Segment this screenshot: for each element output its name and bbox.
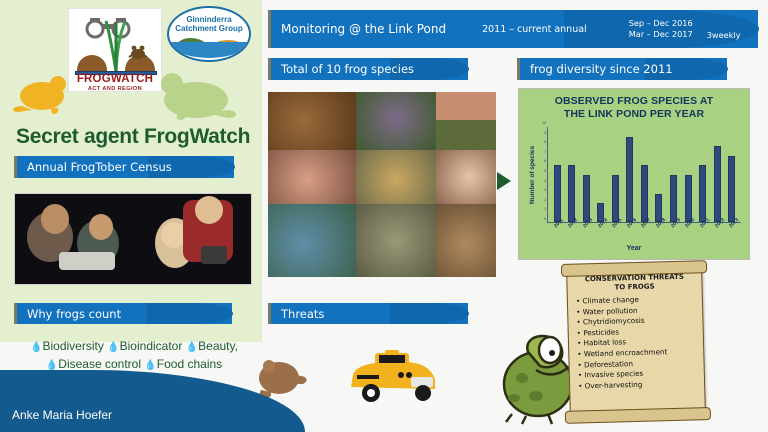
frogwatch-logo-title: FROGWATCH <box>69 73 161 85</box>
frog-photo-2 <box>356 92 436 150</box>
conservation-threats-scroll: CONSERVATION THREATS TO FROGS Climate ch… <box>566 266 706 418</box>
reason-food-chains: Food chains <box>157 357 222 371</box>
frog-photo-4 <box>268 150 356 204</box>
monitoring-frequency: 3weekly <box>697 30 741 40</box>
banner-monitoring-link-pond[interactable]: Monitoring @ the Link Pond 2011 – curren… <box>268 10 758 48</box>
droplet-icon: 💧 <box>107 342 119 353</box>
chart-y-tick: 1 <box>544 207 546 211</box>
chart-y-tick: 4 <box>544 179 546 183</box>
chart-title: OBSERVED FROG SPECIES AT THE LINK POND P… <box>527 95 741 121</box>
chart-y-tick: 6 <box>544 159 546 163</box>
chart-y-tick: 8 <box>544 140 546 144</box>
monitoring-period: 2011 – current annual <box>472 24 587 35</box>
taxi-illustration <box>345 349 441 407</box>
chart-bar <box>728 156 735 223</box>
banner-census-label: Annual FrogTober Census <box>17 160 172 174</box>
gcg-logo-line2: Catchment Group <box>169 24 249 33</box>
gcg-water <box>171 42 247 58</box>
yellow-frog-silhouette-icon <box>8 72 70 116</box>
chart-y-tick: 0 <box>544 217 546 221</box>
chart-x-tick: 2015 <box>611 220 620 229</box>
chart-bar <box>641 165 648 222</box>
poster-canvas: FROGWATCH ACT AND REGION Ginninderra Cat… <box>0 0 768 432</box>
frogwatch-logo: FROGWATCH ACT AND REGION <box>68 8 162 92</box>
chart-title-line2: THE LINK POND PER YEAR <box>527 108 741 121</box>
page-title: Secret agent FrogWatch <box>16 125 256 149</box>
chart-y-tick: 9 <box>544 131 546 135</box>
droplet-icon: 💧 <box>30 342 42 353</box>
banner-threats-label: Threats <box>271 307 324 321</box>
reason-disease-control: Disease control <box>58 357 141 371</box>
ginninderra-catchment-group-logo: Ginninderra Catchment Group <box>167 6 251 62</box>
chart-bar <box>583 175 590 223</box>
arrow-right-icon <box>497 172 511 190</box>
frog-icon <box>127 43 149 61</box>
green-frog-silhouette-icon <box>152 70 240 122</box>
chart-y-tick: 2 <box>544 198 546 202</box>
chart-bars <box>547 127 741 223</box>
chart-x-tick: 2012 <box>567 220 576 229</box>
chart-y-tick: 3 <box>544 188 546 192</box>
frog-photo-3 <box>436 92 496 150</box>
frog-photo-9 <box>436 204 496 277</box>
droplet-icon: 💧 <box>144 360 156 371</box>
chart-bar <box>670 175 677 223</box>
reeds-icon <box>103 19 129 71</box>
reason-bioindicator: Bioindicator <box>120 339 183 353</box>
chart-y-tick: 7 <box>544 150 546 154</box>
monitoring-ranges: Sep – Dec 2016 Mar – Dec 2017 <box>609 18 693 40</box>
frog-photo-6 <box>436 150 496 204</box>
threats-list: Climate changeWater pollutionChytridiomy… <box>576 293 704 392</box>
chart-y-axis-ticks: 012345678910 <box>538 127 547 223</box>
monitoring-range-1: Sep – Dec 2016 <box>619 18 693 28</box>
chart-bar <box>568 165 575 222</box>
monitoring-range-2: Mar – Dec 2017 <box>619 29 693 39</box>
banner-threats[interactable]: Threats <box>268 303 468 324</box>
droplet-icon: 💧 <box>186 342 198 353</box>
chart-y-axis-label: Number of species <box>527 127 538 223</box>
gcg-logo-line1: Ginninderra <box>169 15 249 24</box>
chart-y-tick: 5 <box>544 169 546 173</box>
author-name: Anke Maria Hoefer <box>12 408 112 422</box>
banner-annual-frogtober-census[interactable]: Annual FrogTober Census <box>14 156 234 178</box>
scroll-heading: CONSERVATION THREATS TO FROGS <box>567 267 702 293</box>
chart-bar <box>612 175 619 223</box>
frog-photo-7 <box>268 204 356 277</box>
frogwatch-logo-subtitle: ACT AND REGION <box>69 86 161 92</box>
reason-beauty: Beauty, <box>198 339 238 353</box>
banner-why-frogs-count[interactable]: Why frogs count <box>14 303 232 324</box>
chart-y-tick: 10 <box>542 121 546 125</box>
monitoring-title: Monitoring @ the Link Pond <box>271 22 446 36</box>
chart-bar <box>626 137 633 223</box>
census-night-photo <box>14 193 252 285</box>
chart-title-line1: OBSERVED FROG SPECIES AT <box>527 95 741 108</box>
frog-photo-1 <box>268 92 356 150</box>
chart-bar <box>685 175 692 223</box>
frog-species-chart: OBSERVED FROG SPECIES AT THE LINK POND P… <box>518 88 750 260</box>
banner-total-frog-species[interactable]: Total of 10 frog species <box>268 58 468 80</box>
frog-species-photo-collage <box>268 92 496 277</box>
chart-plot-area: Number of species 012345678910 <box>527 127 741 223</box>
chart-bar <box>554 165 561 222</box>
chart-x-tick: 2020 <box>684 220 693 229</box>
chart-x-axis-ticks: 2011201220132014201520162017201820192020… <box>547 223 741 247</box>
frog-photo-8 <box>356 204 436 277</box>
chart-x-tick: 2017 <box>640 220 649 229</box>
threat-item: Over-harvesting <box>578 378 704 392</box>
banner-frog-diversity[interactable]: frog diversity since 2011 <box>517 58 727 80</box>
reason-biodiversity: Biodiversity <box>42 339 103 353</box>
banner-why-label: Why frogs count <box>17 307 121 321</box>
banner-diversity-label: frog diversity since 2011 <box>520 62 673 76</box>
reasons-line-1: 💧Biodiversity 💧Bioindicator 💧Beauty, <box>10 338 258 356</box>
banner-total-label: Total of 10 frog species <box>271 62 414 76</box>
chart-bar <box>699 165 706 222</box>
chart-bar <box>714 146 721 222</box>
frog-photo-5 <box>356 150 436 204</box>
